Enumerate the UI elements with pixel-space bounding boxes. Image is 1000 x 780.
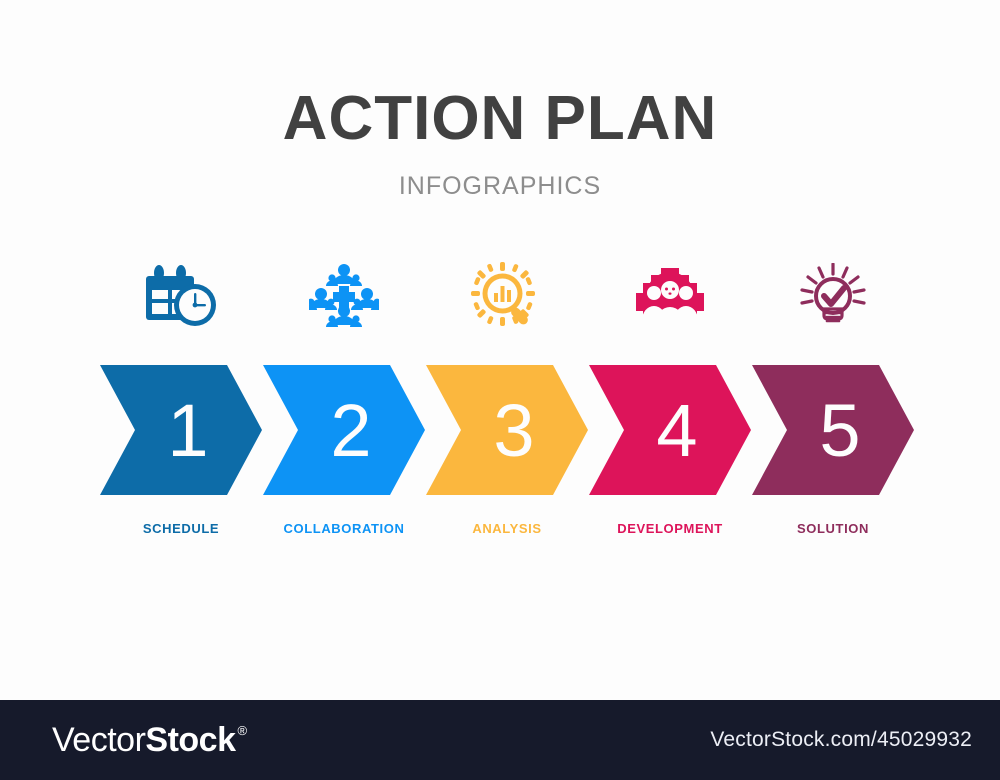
step-arrow-banner-1: [100, 365, 262, 495]
step-5[interactable]: 5 SOLUTION: [752, 258, 914, 558]
brand-name-bold: Stock: [145, 721, 235, 760]
step-label-development: DEVELOPMENT: [589, 521, 751, 536]
step-3[interactable]: 3 ANALYSIS: [426, 258, 588, 558]
calendar-clock-icon: [100, 258, 262, 336]
page-subtitle: INFOGRAPHICS: [0, 172, 1000, 201]
step-4[interactable]: 4 DEVELOPMENT: [589, 258, 751, 558]
step-2[interactable]: 2 COLLABORATION: [263, 258, 425, 558]
magnifier-barchart-icon: [426, 258, 588, 336]
infographic-canvas: ACTION PLAN INFOGRAPHICS: [0, 0, 1000, 780]
step-label-schedule: SCHEDULE: [100, 521, 262, 536]
header: ACTION PLAN INFOGRAPHICS: [0, 88, 1000, 201]
gear-team-icon: [589, 258, 751, 336]
vectorstock-logo: VectorStock®: [52, 721, 247, 760]
watermark-url: VectorStock.com/45029932: [710, 728, 972, 752]
step-1[interactable]: 1 SCHEDULE: [100, 258, 262, 558]
step-label-solution: SOLUTION: [752, 521, 914, 536]
step-arrow-banner-3: [426, 365, 588, 495]
registered-trademark-icon: ®: [237, 723, 246, 738]
step-label-analysis: ANALYSIS: [426, 521, 588, 536]
watermark-footer: VectorStock® VectorStock.com/45029932: [0, 700, 1000, 780]
step-arrow-banner-5: [752, 365, 914, 495]
people-network-icon: [263, 258, 425, 336]
steps-row: 1 SCHEDULE: [100, 258, 912, 558]
lightbulb-check-icon: [752, 258, 914, 336]
step-label-collaboration: COLLABORATION: [263, 521, 425, 536]
page-title: ACTION PLAN: [0, 88, 1000, 150]
step-arrow-banner-4: [589, 365, 751, 495]
brand-name-light: Vector: [52, 721, 145, 760]
step-arrow-banner-2: [263, 365, 425, 495]
